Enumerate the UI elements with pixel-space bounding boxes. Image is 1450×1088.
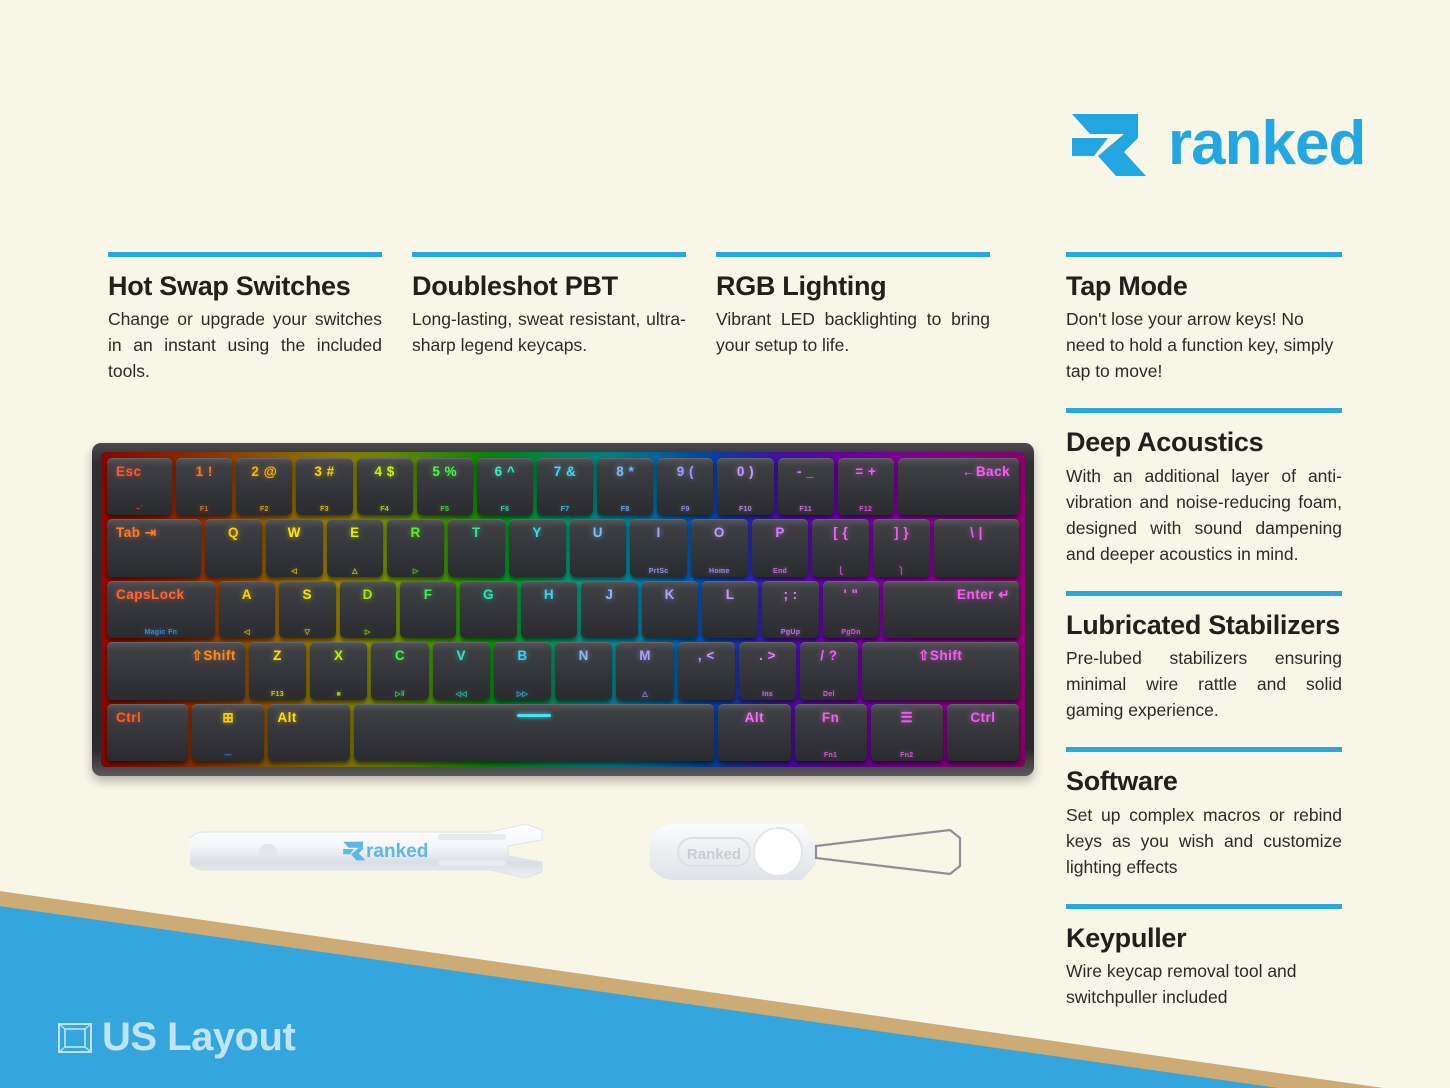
feature-rule <box>1066 591 1342 596</box>
key-sublabel: ~` <box>107 506 172 513</box>
key-4[interactable]: 4 $F4 <box>357 458 413 515</box>
key-sublabel: ▷ <box>340 628 396 636</box>
key-0[interactable]: 0 )F10 <box>717 458 773 515</box>
keyboard-rows: Esc~`1 !F12 @F23 #F34 $F45 %F56 ^F67 &F7… <box>107 458 1019 761</box>
feature-rgb-lighting: RGB Lighting Vibrant LED backlighting to… <box>716 252 990 384</box>
key-sublabel: F6 <box>477 506 533 513</box>
feature-software: Software Set up complex macros or rebind… <box>1066 747 1342 879</box>
feature-title: Doubleshot PBT <box>412 271 686 301</box>
key-label: \ | <box>970 525 983 540</box>
feature-title: Tap Mode <box>1066 271 1342 301</box>
key-i[interactable]: IPrtSc <box>630 519 687 576</box>
key-1[interactable]: 1 !F1 <box>176 458 232 515</box>
key-label: Y <box>532 525 542 540</box>
key-sublabel: △ <box>616 690 673 698</box>
keyboard-product-image: Esc~`1 !F12 @F23 #F34 $F45 %F56 ^F67 &F7… <box>92 443 1034 776</box>
key-sublabel: Ins <box>739 691 796 698</box>
key-n[interactable]: N <box>555 642 612 699</box>
key-sublabel: ▽ <box>279 628 335 636</box>
feature-rule <box>1066 408 1342 413</box>
key-l[interactable]: L <box>702 581 758 638</box>
brand-name: ranked <box>1168 113 1365 175</box>
key-label: G <box>483 587 494 602</box>
keyboard-row: Tab ⇥QW◁E△R▷TYUIPrtScOHomePEnd[ {⎩] }⎫\ … <box>107 519 1019 576</box>
key-sublabel: F9 <box>657 506 713 513</box>
key-sublabel: F2 <box>236 506 292 513</box>
switchpuller-brand-text: ranked <box>366 841 428 862</box>
ranked-r-logo-icon <box>1068 108 1154 180</box>
key-label: [ { <box>833 525 848 540</box>
key-2[interactable]: 2 @F2 <box>236 458 292 515</box>
key-alt[interactable]: Alt <box>268 704 349 761</box>
key-j[interactable]: J <box>581 581 637 638</box>
key-sublabel: ▷‖ <box>371 690 428 698</box>
key-capslock[interactable]: CapsLockMagic Fn <box>107 581 215 638</box>
keyboard-row: CapsLockMagic FnA◁S▽D▷FGHJKL; :PgUp' "Pg… <box>107 581 1019 638</box>
key-key[interactable]: = +F12 <box>838 458 894 515</box>
feature-deep-acoustics: Deep Acoustics With an additional layer … <box>1066 408 1342 566</box>
keyboard-plate: Esc~`1 !F12 @F23 #F34 $F45 %F56 ^F67 &F7… <box>101 452 1025 767</box>
keycap-puller-tool: Ranked <box>650 818 980 886</box>
keycap-outline-icon <box>56 1019 94 1057</box>
feature-body: Set up complex macros or rebind keys as … <box>1066 802 1342 880</box>
key-r[interactable]: R▷ <box>387 519 444 576</box>
key-sublabel: F3 <box>296 506 352 513</box>
key-label: H <box>544 587 554 602</box>
key-space[interactable] <box>354 704 715 761</box>
key-label: Alt <box>745 710 765 725</box>
key-key[interactable]: ' "PgDn <box>823 581 879 638</box>
key-label: N <box>579 648 589 663</box>
key-label: Tab ⇥ <box>116 525 157 541</box>
key-sublabel: △ <box>327 567 384 575</box>
feature-body: Change or upgrade your switches in an in… <box>108 306 382 384</box>
keypuller-brand-text: Ranked <box>687 846 741 863</box>
key-label: , < <box>698 648 715 663</box>
key-label: X <box>334 648 344 663</box>
key-5[interactable]: 5 %F5 <box>417 458 473 515</box>
key-esc[interactable]: Esc~` <box>107 458 172 515</box>
keyboard-row: ⇧ShiftZF13X■C▷‖V◁◁B▷▷NM△, <. >Ins/ ?Del⇧… <box>107 642 1019 699</box>
key-key[interactable]: - _F11 <box>778 458 834 515</box>
key-label: 8 * <box>616 464 634 479</box>
key-alt[interactable]: Alt <box>718 704 790 761</box>
key-6[interactable]: 6 ^F6 <box>477 458 533 515</box>
key-label: 2 @ <box>251 464 277 479</box>
key-label: K <box>665 587 675 602</box>
key-label: Q <box>228 525 239 540</box>
feature-title: Hot Swap Switches <box>108 271 382 301</box>
key-label: 1 ! <box>196 464 213 479</box>
key-label: B <box>517 648 527 663</box>
key-sublabel: F11 <box>778 506 834 513</box>
key-shift[interactable]: ⇧Shift <box>862 642 1019 699</box>
key-label: / ? <box>820 648 837 663</box>
key-v[interactable]: V◁◁ <box>433 642 490 699</box>
key-sublabel: End <box>752 568 809 575</box>
key-sublabel: ◁◁ <box>433 690 490 698</box>
key-f[interactable]: F <box>400 581 456 638</box>
key-c[interactable]: C▷‖ <box>371 642 428 699</box>
key-label: I <box>656 525 660 540</box>
feature-rule <box>1066 252 1342 257</box>
key-label: Esc <box>116 464 142 479</box>
key-label: 6 ^ <box>495 464 516 479</box>
key-key[interactable]: ; :PgUp <box>762 581 818 638</box>
brand-logo: ranked <box>1068 108 1365 180</box>
key-label: ⇧Shift <box>918 648 962 664</box>
key-label: D <box>363 587 373 602</box>
key-7[interactable]: 7 &F7 <box>537 458 593 515</box>
feature-body: Don't lose your arrow keys! No need to h… <box>1066 306 1342 384</box>
key-sublabel: — <box>192 752 264 759</box>
key-tab[interactable]: Tab ⇥ <box>107 519 201 576</box>
banner-content: US Layout <box>56 1015 295 1060</box>
key-s[interactable]: S▽ <box>279 581 335 638</box>
key-t[interactable]: T <box>448 519 505 576</box>
key-label: 4 $ <box>374 464 394 479</box>
key-label: R <box>411 525 421 540</box>
key-key[interactable]: / ?Del <box>800 642 857 699</box>
key-label: Alt <box>277 710 297 725</box>
key-ctrl[interactable]: Ctrl <box>107 704 188 761</box>
banner-label: US Layout <box>102 1015 295 1060</box>
feature-title: Deep Acoustics <box>1066 427 1342 457</box>
key-key[interactable]: ] }⎫ <box>873 519 930 576</box>
key-sublabel: F1 <box>176 506 232 513</box>
key-sublabel: F4 <box>357 506 413 513</box>
key-sublabel: ◁ <box>266 567 323 575</box>
key-sublabel: ◁ <box>219 628 275 636</box>
key-label: ' " <box>844 587 859 602</box>
key-sublabel: PgDn <box>823 629 879 636</box>
key-fn[interactable]: FnFn1 <box>795 704 867 761</box>
key-label: S <box>303 587 313 602</box>
key-u[interactable]: U <box>570 519 627 576</box>
key-label: Ctrl <box>970 710 995 725</box>
key-label: - _ <box>797 464 814 479</box>
key-sublabel: Fn1 <box>795 752 867 759</box>
key-sublabel: Magic Fn <box>107 629 215 636</box>
key-ctrl[interactable]: Ctrl <box>947 704 1019 761</box>
key-p[interactable]: PEnd <box>752 519 809 576</box>
key-label: CapsLock <box>116 587 185 602</box>
key-label: 0 ) <box>737 464 754 479</box>
key-label: W <box>288 525 301 540</box>
key-a[interactable]: A◁ <box>219 581 275 638</box>
key-k[interactable]: K <box>642 581 698 638</box>
key-sublabel: F10 <box>717 506 773 513</box>
key-label: Enter ↵ <box>957 587 1010 603</box>
feature-title: Lubricated Stabilizers <box>1066 610 1342 640</box>
key-sublabel: PgUp <box>762 629 818 636</box>
key-sublabel: ▷ <box>387 567 444 575</box>
key-label: = + <box>855 464 876 479</box>
bottom-banner: US Layout <box>0 888 1450 1088</box>
key-y[interactable]: Y <box>509 519 566 576</box>
key-key[interactable]: \ | <box>934 519 1019 576</box>
key-sublabel: F5 <box>417 506 473 513</box>
feature-body: Long-lasting, sweat resistant, ultra-sha… <box>412 306 686 358</box>
key-sublabel: F13 <box>249 691 306 698</box>
key-9[interactable]: 9 (F9 <box>657 458 713 515</box>
feature-rule <box>412 252 686 257</box>
key-shift[interactable]: ⇧Shift <box>107 642 245 699</box>
key-label: P <box>775 525 785 540</box>
key-sublabel: F7 <box>537 506 593 513</box>
key-label: J <box>605 587 613 602</box>
key-q[interactable]: Q <box>205 519 262 576</box>
key-label: ⇧Shift <box>192 648 236 664</box>
key-h[interactable]: H <box>521 581 577 638</box>
key-e[interactable]: E△ <box>327 519 384 576</box>
key-8[interactable]: 8 *F8 <box>597 458 653 515</box>
key-d[interactable]: D▷ <box>340 581 396 638</box>
feature-rule <box>716 252 990 257</box>
key-sublabel: ■ <box>310 691 367 698</box>
feature-hot-swap-switches: Hot Swap Switches Change or upgrade your… <box>108 252 382 384</box>
key-label: ☰ <box>900 710 913 726</box>
key-label: ] } <box>894 525 909 540</box>
key-w[interactable]: W◁ <box>266 519 323 576</box>
key-label: 9 ( <box>677 464 694 479</box>
key-x[interactable]: X■ <box>310 642 367 699</box>
key-key[interactable]: ⊞— <box>192 704 264 761</box>
key-g[interactable]: G <box>460 581 516 638</box>
spacebar-indicator <box>517 714 551 717</box>
keyboard-row: Ctrl⊞—AltAltFnFn1☰Fn2Ctrl <box>107 704 1019 761</box>
key-label: . > <box>759 648 776 663</box>
key-label: 5 % <box>432 464 457 479</box>
key-label: F <box>424 587 433 602</box>
feature-rule <box>1066 747 1342 752</box>
key-sublabel: ⎩ <box>812 567 869 575</box>
feature-rule <box>108 252 382 257</box>
key-label: Z <box>273 648 282 663</box>
feature-body: Pre-lubed stabilizers ensuring minimal w… <box>1066 645 1342 723</box>
key-key[interactable]: . >Ins <box>739 642 796 699</box>
key-label: ; : <box>783 587 797 602</box>
key-sublabel: ⎫ <box>873 567 930 575</box>
key-key[interactable]: , < <box>678 642 735 699</box>
key-label: ⊞ <box>222 710 234 726</box>
key-label: ←Back <box>962 464 1010 479</box>
key-sublabel: F8 <box>597 506 653 513</box>
key-label: O <box>714 525 725 540</box>
key-3[interactable]: 3 #F3 <box>296 458 352 515</box>
product-infographic: ranked Hot Swap Switches Change or upgra… <box>0 0 1450 1088</box>
key-z[interactable]: ZF13 <box>249 642 306 699</box>
key-label: V <box>457 648 467 663</box>
feature-body: With an additional layer of anti-vibrati… <box>1066 463 1342 567</box>
feature-title: Software <box>1066 766 1342 796</box>
key-key[interactable]: ☰Fn2 <box>871 704 943 761</box>
key-label: Ctrl <box>116 710 141 725</box>
key-sublabel: ▷▷ <box>494 690 551 698</box>
keyboard-case: Esc~`1 !F12 @F23 #F34 $F45 %F56 ^F67 &F7… <box>92 443 1034 776</box>
key-sublabel: Home <box>691 568 748 575</box>
switch-puller-tool: ranked <box>190 816 568 886</box>
key-sublabel: PrtSc <box>630 568 687 575</box>
keyboard-row: Esc~`1 !F12 @F23 #F34 $F45 %F56 ^F67 &F7… <box>107 458 1019 515</box>
key-b[interactable]: B▷▷ <box>494 642 551 699</box>
key-key[interactable]: [ {⎩ <box>812 519 869 576</box>
key-label: M <box>639 648 651 663</box>
feature-lubricated-stabilizers: Lubricated Stabilizers Pre-lubed stabili… <box>1066 591 1342 723</box>
key-m[interactable]: M△ <box>616 642 673 699</box>
feature-body: Vibrant LED backlighting to bring your s… <box>716 306 990 358</box>
top-feature-row: Hot Swap Switches Change or upgrade your… <box>108 252 1020 384</box>
key-label: A <box>242 587 252 602</box>
key-label: 3 # <box>314 464 334 479</box>
feature-doubleshot-pbt: Doubleshot PBT Long-lasting, sweat resis… <box>412 252 686 384</box>
key-sublabel: Del <box>800 691 857 698</box>
key-sublabel: F12 <box>838 506 894 513</box>
key-label: T <box>472 525 481 540</box>
key-o[interactable]: OHome <box>691 519 748 576</box>
key-label: Fn <box>822 710 840 725</box>
key-back[interactable]: ←Back <box>898 458 1019 515</box>
feature-tap-mode: Tap Mode Don't lose your arrow keys! No … <box>1066 252 1342 384</box>
key-enter[interactable]: Enter ↵ <box>883 581 1019 638</box>
feature-title: RGB Lighting <box>716 271 990 301</box>
key-label: U <box>593 525 603 540</box>
key-label: C <box>395 648 405 663</box>
key-sublabel: Fn2 <box>871 752 943 759</box>
key-label: 7 & <box>554 464 577 479</box>
key-label: L <box>726 587 735 602</box>
key-label: E <box>350 525 360 540</box>
